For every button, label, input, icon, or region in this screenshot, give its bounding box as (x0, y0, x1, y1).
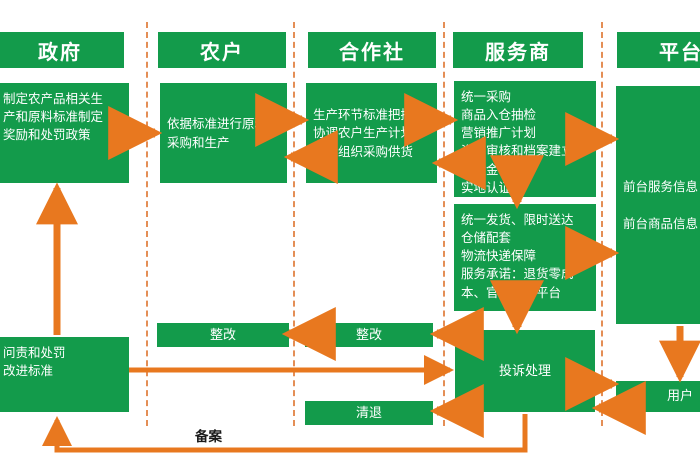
lane-header-label: 服务商 (485, 36, 551, 65)
lane-header-cooperative: 合作社 (308, 32, 436, 68)
box-text: 投诉处理 (499, 362, 551, 381)
box-platform-user: 用户 (616, 381, 700, 412)
box-text: 制定农产品相关生 产和原料标准制定 奖励和处罚政策 (3, 90, 123, 144)
label-text: 备案 (195, 429, 222, 444)
box-text: 统一采购 商品入仓抽检 营销推广计划 资质审核和档案建立 保证金收集 实地认证 (461, 88, 590, 197)
box-rectify-cooperative: 整改 (305, 323, 433, 347)
box-service-logistics: 统一发货、限时送达 仓储配套 物流快递保障 服务承诺：退货零成 本、官方服务平台 (454, 204, 596, 311)
box-service-procurement: 统一采购 商品入仓抽检 营销推广计划 资质审核和档案建立 保证金收集 实地认证 (454, 81, 596, 197)
box-cooperative-standards: 生产环节标准把控 协调农户生产计划 统一组织采购供货 (306, 83, 437, 183)
box-platform-frontend: 前台服务信息 前台商品信息 (616, 86, 700, 324)
box-text: 整改 (356, 326, 382, 345)
box-clear-out: 清退 (305, 401, 433, 425)
lane-divider-3 (443, 22, 445, 426)
lane-header-label: 合作社 (339, 36, 405, 65)
box-text: 依据标准进行原料 采购和生产 (167, 115, 267, 151)
box-government-policy: 制定农产品相关生 产和原料标准制定 奖励和处罚政策 (0, 83, 129, 183)
lane-header-label: 平台 (659, 36, 700, 65)
box-text: 统一发货、限时送达 仓储配套 物流快递保障 服务承诺：退货零成 本、官方服务平台 (461, 211, 590, 302)
box-text: 生产环节标准把控 协调农户生产计划 统一组织采购供货 (313, 106, 413, 160)
box-farmer-production: 依据标准进行原料 采购和生产 (160, 83, 287, 183)
lane-divider-1 (146, 22, 148, 426)
lane-header-label: 农户 (200, 36, 244, 65)
box-text: 清退 (356, 404, 382, 423)
box-text: 前台服务信息 前台商品信息 (623, 178, 698, 232)
box-text: 问责和处罚 改进标准 (3, 344, 123, 380)
box-government-accountability: 问责和处罚 改进标准 (0, 337, 129, 412)
lane-header-platform: 平台 (617, 32, 700, 68)
lane-divider-4 (601, 22, 603, 426)
lane-header-service-provider: 服务商 (453, 32, 583, 68)
lane-header-government: 政府 (0, 32, 124, 68)
lane-header-label: 政府 (38, 36, 82, 65)
lane-divider-2 (293, 22, 295, 426)
lane-header-farmer: 农户 (158, 32, 286, 68)
flowchart-canvas: 政府 农户 合作社 服务商 平台 制定农产品相关生 产和原料标准制定 奖励和处罚… (0, 0, 700, 470)
label-filing: 备案 (195, 425, 222, 445)
arrow-filing-loop (57, 414, 525, 450)
box-rectify-farmer: 整改 (157, 323, 289, 347)
box-service-complaint: 投诉处理 (455, 330, 595, 412)
box-text: 用户 (667, 387, 693, 406)
box-text: 整改 (210, 326, 236, 345)
